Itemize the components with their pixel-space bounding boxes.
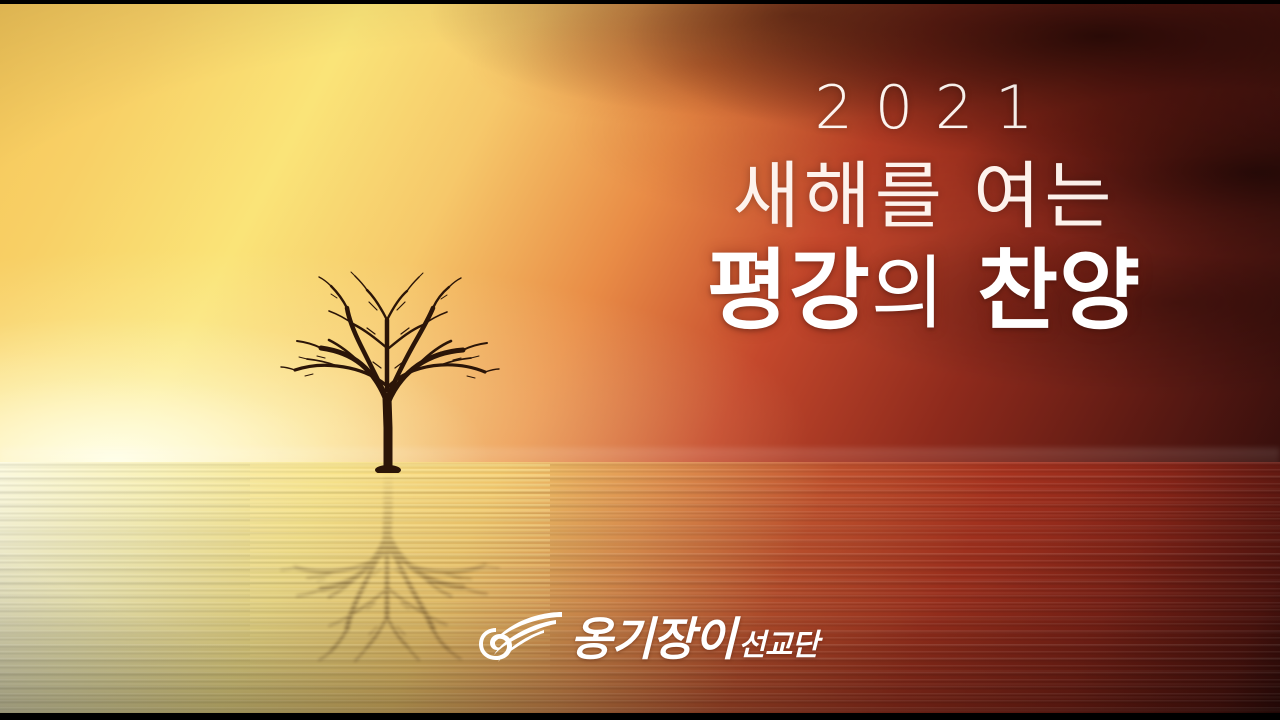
letterbox-bar-top bbox=[0, 0, 1280, 4]
tree-silhouette bbox=[277, 258, 502, 473]
title-main-part1: 평강 bbox=[707, 239, 871, 342]
organization-logo: 옹기장이 선교단 bbox=[478, 608, 818, 669]
water-ripples-fine bbox=[0, 462, 1280, 720]
video-still-frame: 2021 새해를 여는 평강의 찬양 옹기장이 선교단 bbox=[0, 0, 1280, 720]
logo-wordmark-sub: 선교단 bbox=[738, 631, 818, 661]
title-subtitle: 새해를 여는 bbox=[654, 160, 1194, 234]
swoosh-spiral-icon bbox=[478, 608, 564, 669]
title-block: 2021 새해를 여는 평강의 찬양 bbox=[654, 78, 1194, 336]
title-year: 2021 bbox=[654, 78, 1194, 138]
title-main: 평강의 찬양 bbox=[654, 246, 1194, 336]
logo-wordmark-main: 옹기장이 bbox=[570, 616, 735, 662]
letterbox-bar-bottom bbox=[0, 713, 1280, 720]
title-main-particle: 의 bbox=[871, 247, 946, 340]
title-main-part2: 찬양 bbox=[977, 239, 1141, 342]
logo-wordmark: 옹기장이 선교단 bbox=[570, 616, 818, 662]
